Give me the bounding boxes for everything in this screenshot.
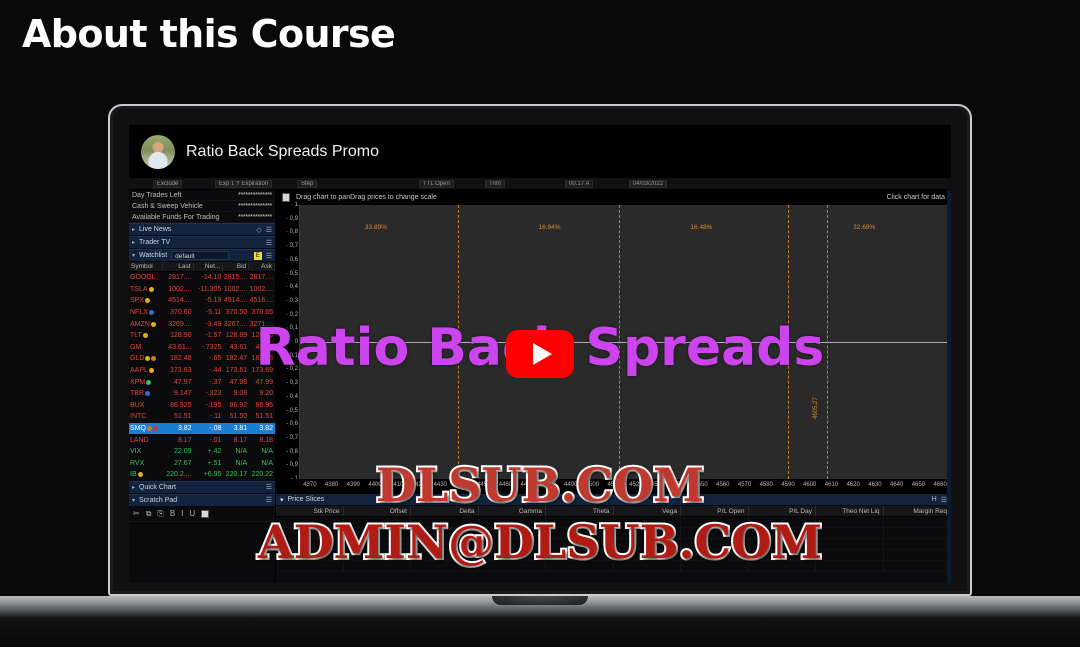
watchlist-cell: 43.61: [223, 344, 249, 351]
chevron-down-icon: ▾: [132, 497, 135, 504]
account-row: Cash & Sweep Vehicle**************: [129, 201, 275, 212]
y-axis-tick-label: - 0,3: [286, 380, 298, 386]
watchlist-row[interactable]: IB220.2....+6.95220.17220.22: [129, 469, 275, 481]
sidebar-item-trader-tv[interactable]: ▸ Trader TV ☰: [129, 236, 275, 249]
price-slices-row[interactable]: [276, 528, 951, 539]
watchlist-cell: 4514....: [163, 297, 194, 304]
y-axis-tick-label: - 0,2: [286, 366, 298, 372]
symbol-status-dot-icon: [151, 322, 156, 327]
price-slices-column-header[interactable]: Vega: [614, 506, 682, 516]
price-slices-cell: [479, 550, 547, 560]
x-axis-tick-label: 4470: [521, 482, 534, 488]
toolbar-chip[interactable]: Exp 1 Y Expiration: [215, 180, 272, 188]
price-slices-cell: [546, 528, 614, 538]
watchlist-cell: -.37: [194, 379, 224, 386]
price-slices-cell: [276, 517, 344, 527]
color-swatch-icon[interactable]: [201, 510, 209, 518]
watchlist-cell: N/A: [223, 460, 249, 467]
price-slices-column-header[interactable]: Theo Net Liq: [816, 506, 884, 516]
watchlist-row[interactable]: SMQ3.82-.083.813.82: [129, 423, 275, 435]
price-slices-row[interactable]: [276, 517, 951, 528]
watchlist-symbol: VIX: [129, 448, 163, 455]
x-axis-tick-label: 4480: [542, 482, 555, 488]
account-row-value: **************: [238, 192, 272, 199]
watchlist-cell: 9.147: [163, 390, 194, 397]
watchlist-cell: 9.20: [249, 390, 275, 397]
probability-label: 16.94%: [539, 224, 561, 231]
price-slices-cell: [411, 528, 479, 538]
y-axis-tick-label: - 0,4: [286, 394, 298, 400]
y-axis-tick-label: · 1: [291, 202, 298, 208]
price-slices-cell: [681, 539, 749, 549]
watchlist-row[interactable]: VIX22.09+.42N/AN/A: [129, 446, 275, 458]
tos-top-toolbar[interactable]: ExcludeExp 1 Y ExpirationStepTTL OpenTri…: [129, 178, 951, 190]
account-row-value: **************: [238, 203, 272, 210]
account-row: Day Trades Left**************: [129, 190, 275, 201]
watchlist-row[interactable]: TLT128.90-1.57128.89128.90: [129, 330, 275, 342]
x-axis-tick-label: 4610: [825, 482, 838, 488]
watchlist-row[interactable]: GM43.61...-.732543.6143.62: [129, 342, 275, 354]
laptop-base-shadow: [0, 618, 1080, 644]
toolbar-chip[interactable]: Exclude: [153, 180, 182, 188]
x-axis-tick-label: 4620: [847, 482, 860, 488]
account-row: Available Funds For Trading*************…: [129, 212, 275, 223]
y-axis-tick-label: - 0,7: [286, 435, 298, 441]
price-slices-cell: [546, 550, 614, 560]
price-slices-panel: ▾ Price Slices Н ☰ Stk PriceOffsetDeltaG…: [276, 493, 951, 583]
price-slices-cell: [884, 528, 952, 538]
watchlist-symbol: SMQ: [129, 425, 163, 432]
price-slices-cell: [749, 539, 817, 549]
price-slices-column-header[interactable]: P/L Day: [749, 506, 817, 516]
laptop-lid: Ratio Back Spreads Promo ExcludeExp 1 Y …: [108, 104, 972, 596]
trader-tv-label: Trader TV: [139, 239, 170, 246]
chevron-down-icon: ▾: [132, 252, 135, 259]
zero-line: [300, 342, 951, 343]
watchlist-cell: +.42: [194, 448, 224, 455]
price-slices-column-header[interactable]: Offset: [344, 506, 412, 516]
price-slices-column-header[interactable]: Stk Price: [276, 506, 344, 516]
x-axis-tick-label: 4440: [455, 482, 468, 488]
y-axis-tick-label: · 0,1: [286, 325, 298, 331]
price-slices-column-header[interactable]: Gamma: [479, 506, 547, 516]
symbol-status-dot-icon: [151, 356, 156, 361]
toolbar-chip[interactable]: TTL Open: [419, 180, 454, 188]
watchlist-cell: -3.49: [194, 321, 224, 328]
price-slices-cell: [884, 517, 952, 527]
account-summary: Day Trades Left**************Cash & Swee…: [129, 190, 275, 223]
watchlist-cell: 182.48: [249, 355, 275, 362]
price-slices-cell: [816, 539, 884, 549]
account-row-label: Day Trades Left: [132, 192, 181, 199]
price-slices-cell: [344, 539, 412, 549]
watchlist-column-header[interactable]: Last: [163, 263, 194, 270]
watchlist-header: SymbolLastNet...BidAsk: [129, 262, 275, 272]
watchlist-cell: 43.61...: [163, 344, 194, 351]
watchlist-cell: 173.69: [249, 367, 275, 374]
watchlist-cell: N/A: [249, 460, 275, 467]
watchlist-cell: -.08: [194, 425, 224, 432]
menu-icon[interactable]: ☰: [266, 496, 272, 504]
watchlist-cell: -1.57: [194, 332, 224, 339]
symbol-status-dot-icon: [146, 380, 151, 385]
scratchpad-tool-✂[interactable]: ✂: [133, 509, 140, 518]
price-slices-header[interactable]: ▾ Price Slices Н ☰: [276, 494, 951, 506]
price-slices-cell: [681, 550, 749, 560]
x-axis-tick-label: 4450: [477, 482, 490, 488]
watchlist-cell: 220.17: [223, 471, 249, 478]
menu-icon[interactable]: ☰: [266, 239, 272, 247]
price-slices-cell: [749, 528, 817, 538]
y-axis-tick-label: - 0,9: [286, 462, 298, 468]
price-slices-column-header[interactable]: P/L Open: [681, 506, 749, 516]
watchlist-preset-select[interactable]: default: [171, 251, 229, 260]
price-slices-cell: [479, 517, 547, 527]
menu-icon[interactable]: ☰: [266, 252, 272, 260]
watchlist-row[interactable]: GOOGL2817....-14.102815....2817....: [129, 272, 275, 284]
chart-panel: Drag chart to panDrag prices to change s…: [276, 178, 951, 583]
x-axis-tick-label: 4590: [781, 482, 794, 488]
x-axis-tick-label: 4510: [607, 482, 620, 488]
plot-area[interactable]: · 1· 0,9· 0,8· 0,7· 0,6· 0,5· 0,4· 0,3· …: [276, 205, 951, 479]
sidebar-item-quick-chart[interactable]: ▸ Quick Chart ☰: [129, 481, 275, 494]
price-slices-cell: [681, 517, 749, 527]
price-slices-cell: [479, 528, 547, 538]
price-slices-cell: [276, 550, 344, 560]
price-slices-cell: [411, 539, 479, 549]
y-axis-tick-label: · 0: [291, 339, 298, 345]
vertical-scrollbar[interactable]: [947, 178, 951, 583]
price-slices-cell: [546, 517, 614, 527]
price-slices-cell: [344, 550, 412, 560]
price-slices-row[interactable]: [276, 550, 951, 561]
chart-settings-icon[interactable]: [282, 193, 290, 202]
watchlist-cell: -.323: [194, 390, 224, 397]
probability-label: 32.69%: [853, 224, 875, 231]
watchlist-cell: -11.305: [194, 286, 224, 293]
price-slices-cell: [681, 561, 749, 571]
watchlist-cell: 128.90: [249, 332, 275, 339]
watchlist-row[interactable]: RVX27.67+.51N/AN/A: [129, 458, 275, 470]
watchlist-cell: 182.47: [223, 355, 249, 362]
watchlist-badge[interactable]: E: [254, 252, 262, 260]
account-row-label: Available Funds For Trading: [132, 214, 219, 221]
toolbar-chip[interactable]: 00.17 A: [565, 180, 593, 188]
price-slices-cell: [479, 561, 547, 571]
sidebar-item-live-news[interactable]: ▸ Live News ◇ ☰: [129, 223, 275, 236]
watchlist-cell: 3267....: [223, 321, 249, 328]
price-slices-cell: [884, 561, 952, 571]
scratchpad-tool-B[interactable]: B: [170, 509, 175, 518]
watchlist-row[interactable]: GLD182.48-.65182.47182.48: [129, 353, 275, 365]
y-axis-tick-label: · 0,7: [286, 243, 298, 249]
price-slices-cell: [276, 539, 344, 549]
watchlist-cell: -5.11: [194, 309, 224, 316]
x-axis-tick-label: 4430: [434, 482, 447, 488]
menu-icon[interactable]: ☰: [266, 483, 272, 491]
watchlist-cell: -.11: [194, 413, 224, 420]
price-slices-cell: [681, 528, 749, 538]
watchlist-cell: 9.08: [223, 390, 249, 397]
symbol-status-dot-icon: [149, 368, 154, 373]
menu-icon[interactable]: ☰: [266, 226, 272, 234]
price-slices-cell: [614, 550, 682, 560]
x-axis-tick-label: 4490: [564, 482, 577, 488]
x-axis-tick-label: 4520: [629, 482, 642, 488]
watchlist-row[interactable]: TSLA1002....-11.3051002....1002....: [129, 284, 275, 296]
symbol-status-dot-icon: [145, 391, 150, 396]
toolbar-chip[interactable]: 04/03/2022: [629, 180, 667, 188]
y-axis-tick-label: · 0,6: [286, 257, 298, 263]
watchlist-cell: -.7325: [194, 344, 224, 351]
watchlist-cell: -.44: [194, 367, 224, 374]
watchlist-symbol: RVX: [129, 460, 163, 467]
price-slices-cell: [344, 528, 412, 538]
watchlist-symbol: TBR: [129, 390, 163, 397]
price-slices-cell: [614, 539, 682, 549]
watchlist-cell: 8.17: [223, 437, 249, 444]
x-axis-tick-label: 4550: [694, 482, 707, 488]
scratchpad-tool-U[interactable]: U: [189, 509, 195, 518]
video-title: Ratio Back Spreads Promo: [186, 143, 379, 161]
page-root: About this Course Ratio Back Spreads Pro…: [0, 0, 1080, 647]
watchlist-cell: N/A: [249, 448, 275, 455]
toolbar-chip[interactable]: Trim: [485, 180, 505, 188]
price-slices-cell: [614, 528, 682, 538]
x-axis-tick-label: 4460: [499, 482, 512, 488]
watchlist-cell: -5.19: [194, 297, 224, 304]
watchlist-cell: 128.89: [223, 332, 249, 339]
watchlist-cell: +.51: [194, 460, 224, 467]
watchlist-column-header[interactable]: Net...: [194, 263, 224, 270]
scratchpad-text-area[interactable]: [129, 521, 275, 583]
vertical-marker: [458, 205, 459, 479]
play-button[interactable]: [506, 330, 574, 378]
symbol-status-dot-icon: [138, 472, 143, 477]
watchlist-cell: 27.67: [163, 460, 194, 467]
price-slices-row[interactable]: [276, 561, 951, 572]
chart-hint-bar: Drag chart to panDrag prices to change s…: [276, 190, 951, 205]
watchlist-symbol: AMZN: [129, 321, 163, 328]
laptop-mockup: Ratio Back Spreads Promo ExcludeExp 1 Y …: [0, 104, 1080, 647]
x-axis-tick-label: 4500: [586, 482, 599, 488]
watchlist-cell: 128.90: [163, 332, 194, 339]
chevron-right-icon: ▸: [132, 484, 135, 491]
price-slices-row[interactable]: [276, 539, 951, 550]
watchlist-cell: 370.65: [249, 309, 275, 316]
watchlist-cell: 3.82: [249, 425, 275, 432]
watchlist-row[interactable]: INTC51.51-.1151.5051.51: [129, 411, 275, 423]
watchlist-cell: 1002....: [163, 286, 194, 293]
x-axis-tick-label: 4630: [868, 482, 881, 488]
watchlist-column-header[interactable]: Symbol: [129, 263, 163, 270]
scratchpad-toolbar: ✂⧉⎘BIU: [129, 507, 275, 521]
watchlist-cell: 173.61: [223, 367, 249, 374]
plus-icon[interactable]: Н: [932, 496, 937, 503]
price-slices-cell: [411, 561, 479, 571]
watchlist-cell: 1002....: [249, 286, 275, 293]
risk-profile-plot[interactable]: 4605.2733.89%16.94%16.48%32.69%: [299, 205, 951, 479]
x-axis-tick-label: 4530: [651, 482, 664, 488]
symbol-status-dot-icon: [153, 426, 158, 431]
probability-label: 16.48%: [690, 224, 712, 231]
watchlist-cell: 8.17: [163, 437, 194, 444]
price-slices-cell: [344, 517, 412, 527]
scratchpad-tool-⎘[interactable]: ⎘: [157, 509, 163, 519]
price-slices-cell: [614, 561, 682, 571]
watchlist-symbol: NFLX: [129, 309, 163, 316]
watchlist-cell: 3.82: [163, 425, 194, 432]
watchlist-symbol: INTC: [129, 413, 163, 420]
watchlist-column-header[interactable]: Bid: [223, 263, 249, 270]
price-slices-column-header[interactable]: Theta: [546, 506, 614, 516]
price-slices-cell: [749, 517, 817, 527]
watchlist-symbol: TSLA: [129, 286, 163, 293]
x-axis-tick-label: 4540: [673, 482, 686, 488]
watchlist-row[interactable]: AAPL173.63-.44173.61173.69: [129, 365, 275, 377]
laptop-base-notch: [492, 596, 588, 605]
sidebar-item-scratch-pad[interactable]: ▾ Scratch Pad ☰: [129, 494, 275, 507]
watchlist-cell: 51.51: [249, 413, 275, 420]
vertical-marker: [827, 205, 828, 479]
x-axis-tick-label: 4600: [803, 482, 816, 488]
y-axis-tick-label: - 0,1: [286, 353, 298, 359]
price-slices-column-headers: Stk PriceOffsetDeltaGammaThetaVegaP/L Op…: [276, 506, 951, 517]
y-axis-tick-label: · 0,4: [286, 284, 298, 290]
price-slices-cell: [276, 528, 344, 538]
probability-label: 33.89%: [365, 224, 387, 231]
watchlist-row[interactable]: LAND8.17-.018.178.18: [129, 434, 275, 446]
watchlist-cell: 2815....: [223, 274, 249, 281]
x-axis-tick-label: 4660: [933, 482, 946, 488]
price-slices-cell: [546, 539, 614, 549]
watchlist-row[interactable]: NFLX370.60-5.11370.50370.65: [129, 307, 275, 319]
watchlist-cell: 2817....: [249, 274, 275, 281]
x-axis-tick-label: 4640: [890, 482, 903, 488]
watchlist-symbol: GLD: [129, 355, 163, 362]
watchlist-row[interactable]: AMZN3269....-3.493267....3271....: [129, 318, 275, 330]
watchlist-cell: 3269....: [163, 321, 194, 328]
watchlist-symbol: IB: [129, 471, 163, 478]
price-slices-cell: [884, 539, 952, 549]
symbol-status-dot-icon: [145, 356, 150, 361]
watchlist-column-header[interactable]: Ask: [249, 263, 275, 270]
x-axis-tick-label: 4420: [412, 482, 425, 488]
watchlist-cell: 220.2....: [163, 471, 194, 478]
price-slices-cell: [816, 517, 884, 527]
x-axis-tick-label: 4390: [347, 482, 360, 488]
x-axis-tick-label: 4380: [325, 482, 338, 488]
x-axis-tick-label: 4580: [760, 482, 773, 488]
tos-application: Day Trades Left**************Cash & Swee…: [129, 178, 951, 583]
watchlist-cell: 86.95: [249, 402, 275, 409]
watchlist-row[interactable]: TBR9.147-.3239.089.20: [129, 388, 275, 400]
left-sidebar: Day Trades Left**************Cash & Swee…: [129, 178, 276, 583]
watchlist-cell: 86.92: [223, 402, 249, 409]
price-slices-cell: [479, 539, 547, 549]
y-axis: · 1· 0,9· 0,8· 0,7· 0,6· 0,5· 0,4· 0,3· …: [276, 205, 299, 479]
watchlist-cell: 3.81: [223, 425, 249, 432]
symbol-status-dot-icon: [149, 287, 154, 292]
watchlist-cell: 86.925: [163, 402, 194, 409]
price-slices-column-header[interactable]: Delta: [411, 506, 479, 516]
price-slices-rows: [276, 517, 951, 572]
x-axis-tick-label: 4410: [390, 482, 403, 488]
price-slices-cell: [749, 550, 817, 560]
watchlist-symbol: GOOGL: [129, 274, 163, 281]
link-icon[interactable]: ◇: [256, 226, 261, 234]
symbol-status-dot-icon: [143, 333, 148, 338]
watchlist-symbol: BUX: [129, 402, 163, 409]
price-slices-cell: [344, 561, 412, 571]
x-axis: 4370438043904400441044204430444044504460…: [276, 479, 951, 493]
x-axis-tick-label: 4370: [303, 482, 316, 488]
symbol-status-dot-icon: [149, 310, 154, 315]
watchlist-row[interactable]: SPX4514....-5.194514....4516....: [129, 295, 275, 307]
watchlist-cell: 43.62: [249, 344, 275, 351]
watchlist-cell: 8.18: [249, 437, 275, 444]
watchlist-cell: 173.63: [163, 367, 194, 374]
scratchpad-tool-⧉[interactable]: ⧉: [146, 509, 152, 519]
watchlist-cell: 47.98: [223, 379, 249, 386]
watchlist-row[interactable]: XPM47.97-.3747.9847.99: [129, 376, 275, 388]
sidebar-item-watchlist[interactable]: ▾ Watchlist default E ☰: [129, 249, 275, 262]
x-axis-tick-label: 4570: [738, 482, 751, 488]
watchlist-cell: 47.99: [249, 379, 275, 386]
watchlist-symbol: AAPL: [129, 367, 163, 374]
live-news-label: Live News: [139, 226, 171, 233]
watchlist-cell: 4514....: [223, 297, 249, 304]
price-slices-cell: [546, 561, 614, 571]
watchlist-label: Watchlist: [139, 252, 167, 259]
laptop-screen: Ratio Back Spreads Promo ExcludeExp 1 Y …: [129, 125, 951, 583]
y-axis-tick-label: · 0,8: [286, 229, 298, 235]
page-title: About this Course: [22, 12, 395, 56]
scratchpad-tool-I[interactable]: I: [181, 509, 183, 518]
price-slices-cell: [749, 561, 817, 571]
chevron-down-icon: ▾: [280, 496, 284, 504]
watchlist-row[interactable]: BUX86.925-.19586.9286.95: [129, 400, 275, 412]
avatar: [141, 135, 175, 169]
price-slices-column-header[interactable]: Margin Req: [884, 506, 952, 516]
account-row-label: Cash & Sweep Vehicle: [132, 203, 203, 210]
toolbar-chip[interactable]: Step: [297, 180, 317, 188]
watchlist-cell: 2817....: [163, 274, 194, 281]
x-axis-tick-label: 4560: [716, 482, 729, 488]
video-header: Ratio Back Spreads Promo: [129, 125, 951, 178]
price-slices-title: Price Slices: [288, 496, 325, 503]
watchlist-rows: GOOGL2817....-14.102815....2817....TSLA1…: [129, 272, 275, 481]
price-slices-cell: [411, 550, 479, 560]
watchlist-symbol: XPM: [129, 379, 163, 386]
chart-hint-left: Drag chart to panDrag prices to change s…: [296, 194, 437, 201]
x-axis-tick-label: 4650: [912, 482, 925, 488]
y-axis-tick-label: · 0,9: [286, 216, 298, 222]
watchlist-symbol: LAND: [129, 437, 163, 444]
watchlist-cell: -.01: [194, 437, 224, 444]
watchlist-cell: 1002....: [223, 286, 249, 293]
y-axis-tick-label: - 0,8: [286, 449, 298, 455]
watchlist-symbol: GM: [129, 344, 163, 351]
watchlist-cell: -.195: [194, 402, 224, 409]
watchlist-cell: 47.97: [163, 379, 194, 386]
watchlist-cell: 51.51: [163, 413, 194, 420]
vertical-marker: [619, 205, 620, 479]
watchlist-cell: N/A: [223, 448, 249, 455]
watchlist-cell: 370.60: [163, 309, 194, 316]
watchlist-cell: 51.50: [223, 413, 249, 420]
vertical-marker-label: 4605.27: [813, 397, 819, 419]
